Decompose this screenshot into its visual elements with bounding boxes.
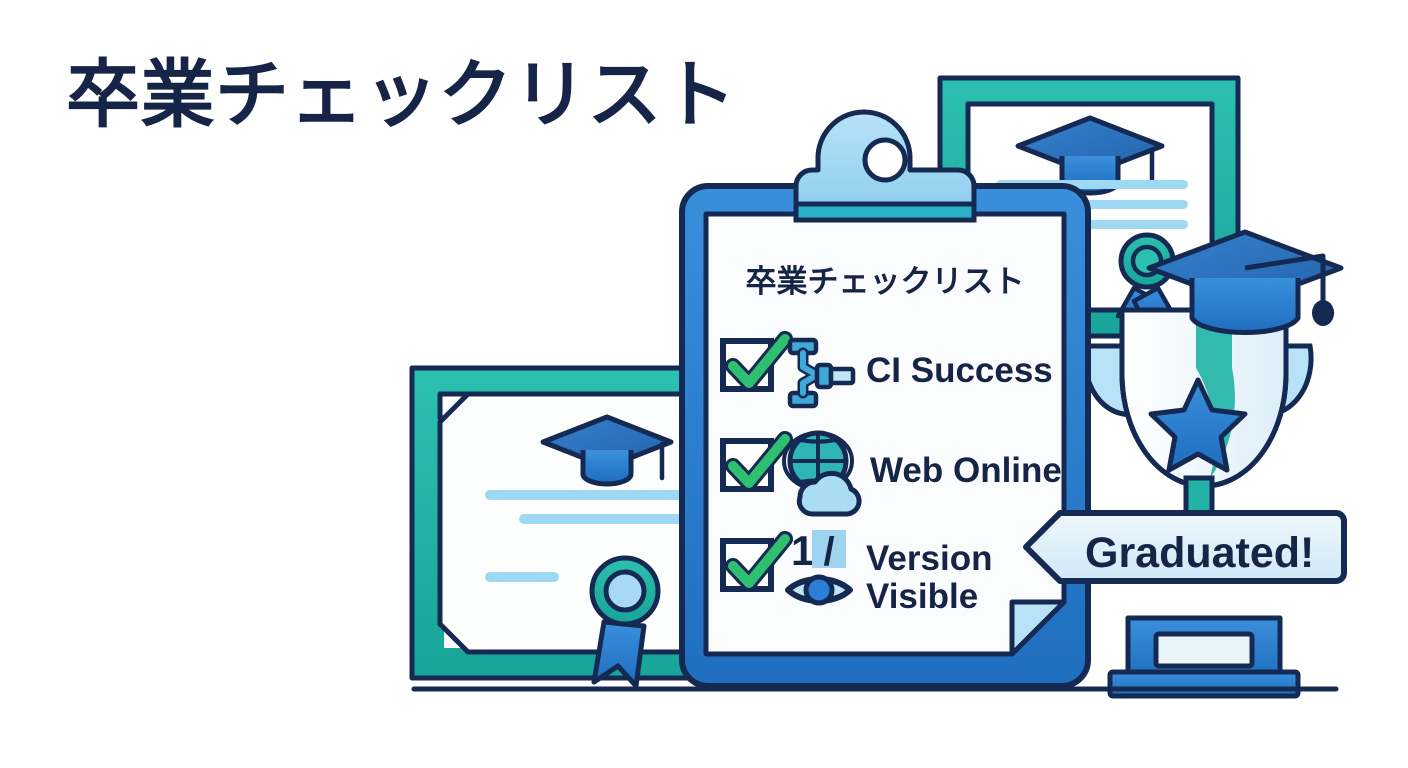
version-badge-number: 1 bbox=[791, 527, 814, 574]
graduated-banner-label: Graduated! bbox=[1085, 529, 1314, 577]
graduation-checklist-illustration: 卒業チェックリスト CI Success bbox=[0, 0, 1408, 768]
certificate-front bbox=[412, 368, 712, 686]
version-badge: 1 / bbox=[791, 527, 846, 574]
graduated-banner: Graduated! bbox=[1026, 513, 1344, 581]
cert-line bbox=[519, 514, 691, 524]
cert-line bbox=[485, 490, 691, 500]
cert-line bbox=[485, 572, 559, 582]
checklist-item-label-line2: Visible bbox=[866, 577, 978, 616]
version-badge-slash: / bbox=[823, 530, 834, 574]
checklist-item-label-line1: Version bbox=[866, 539, 992, 578]
clipboard-heading: 卒業チェックリスト bbox=[746, 264, 1025, 300]
clipboard: 卒業チェックリスト CI Success bbox=[682, 112, 1088, 686]
eye-icon bbox=[788, 577, 850, 603]
illustration-canvas: 卒業チェックリスト bbox=[0, 0, 1408, 768]
checklist-item-label: Web Online bbox=[870, 451, 1062, 490]
checklist-item-label: CI Success bbox=[866, 351, 1053, 390]
